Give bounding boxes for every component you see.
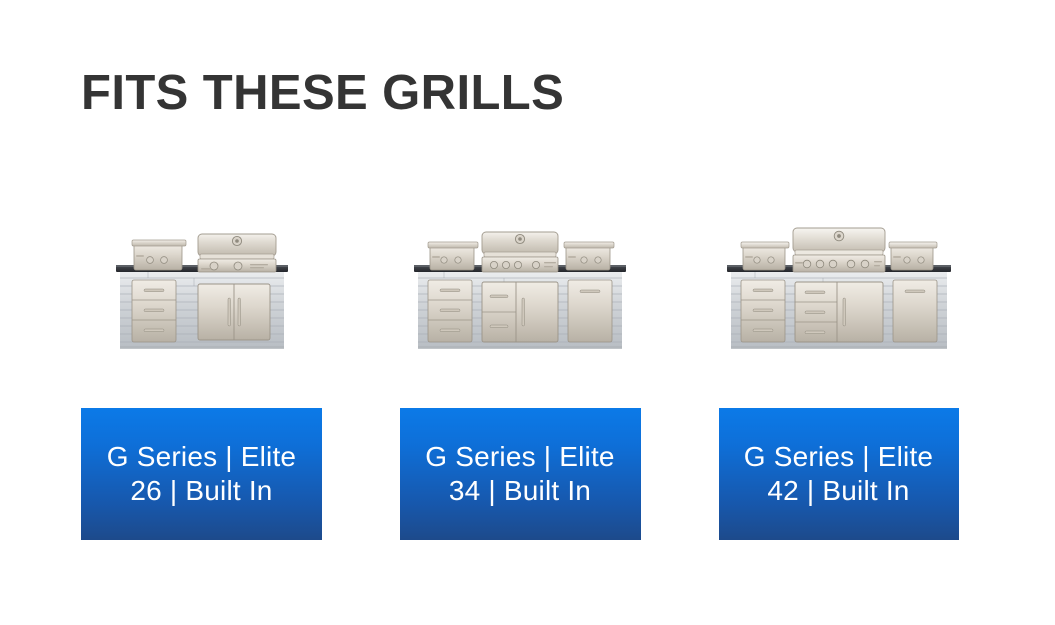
grill-card-label-42[interactable]: G Series | Elite 42 | Built In: [719, 408, 959, 540]
grill-island-image-34: [400, 170, 641, 370]
grill-island-image-42: [718, 170, 959, 370]
grill-card: G Series | Elite 42 | Built In: [718, 170, 959, 540]
grill-card: G Series | Elite 34 | Built In: [400, 170, 641, 540]
fits-these-grills-section: FITS THESE GRILLS: [0, 0, 1055, 625]
grill-card: G Series | Elite 26 | Built In: [81, 170, 322, 540]
grill-card-label-26[interactable]: G Series | Elite 26 | Built In: [81, 408, 322, 540]
grill-island-image-26: [81, 170, 322, 370]
page-title: FITS THESE GRILLS: [81, 68, 564, 119]
grill-card-label-34[interactable]: G Series | Elite 34 | Built In: [400, 408, 641, 540]
grill-card-grid: G Series | Elite 26 | Built In: [81, 170, 959, 540]
